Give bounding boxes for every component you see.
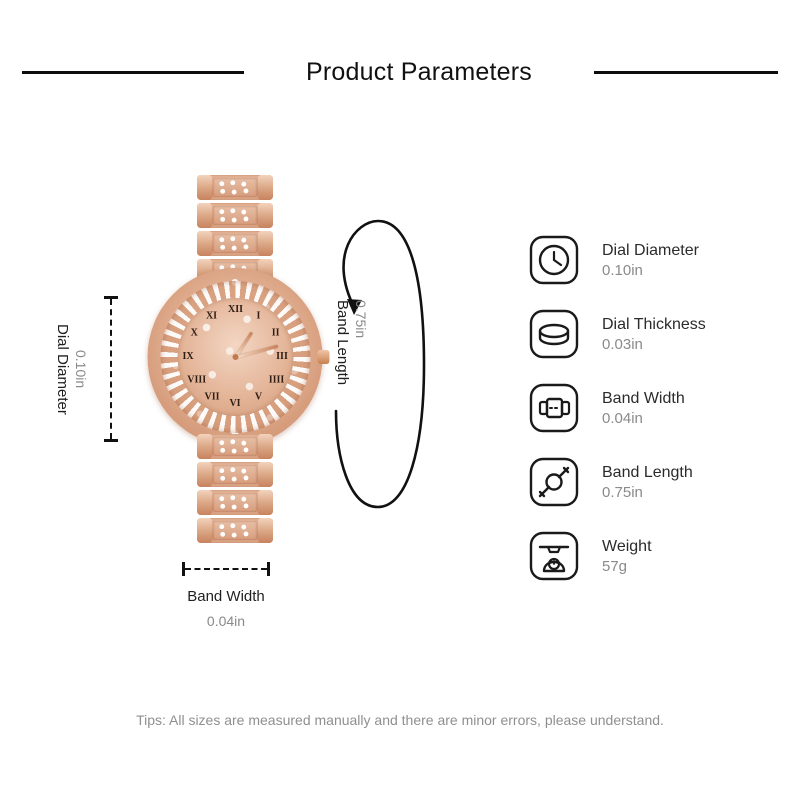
band-link (197, 462, 273, 487)
spec-row-dial-diameter: Dial Diameter 0.10in (528, 232, 790, 288)
spec-value: 0.10in (602, 261, 699, 281)
watch-dial-icon (528, 234, 580, 286)
dial-numeral: VII (205, 392, 219, 404)
band-link (197, 231, 273, 256)
spec-row-weight: Weight 57g (528, 528, 790, 584)
spec-value: 0.03in (602, 335, 706, 355)
band-link (197, 175, 273, 200)
dial-numeral: IX (181, 351, 195, 363)
watch-band-bottom (197, 432, 273, 562)
dimension-dashed-line (185, 568, 267, 570)
band-link (197, 518, 273, 543)
band-link (197, 434, 273, 459)
dimension-cap-bottom (104, 439, 118, 442)
specifications-list: Dial Diameter 0.10in Dial Thickness 0.03… (528, 232, 790, 602)
dial-numeral: VIII (187, 375, 201, 387)
dial-numeral: X (187, 328, 201, 340)
watch-dial: XIIIIIIIIIIIIVVIVIIVIIIIXXXI (177, 298, 293, 416)
band-length-value: 0.75in (353, 300, 369, 338)
dial-diameter-value: 0.10in (73, 350, 89, 388)
header-rule-left (22, 71, 244, 74)
dial-numeral: III (275, 351, 289, 363)
header-rule-right (594, 71, 778, 74)
dial-numeral: I (252, 310, 266, 322)
dial-diameter-annotation: Dial Diameter 0.10in (52, 296, 89, 442)
footer-tip: Tips: All sizes are measured manually an… (0, 712, 800, 728)
dial-numeral: V (252, 392, 266, 404)
dial-numeral: IIII (269, 375, 283, 387)
dimension-dashed-line (110, 299, 112, 439)
dial-numeral: XI (205, 310, 219, 322)
dial-numeral: II (269, 328, 283, 340)
scale-icon (528, 530, 580, 582)
spec-row-band-length: Band Length 0.75in (528, 454, 790, 510)
watch-case: XIIIIIIIIIIIIVVIVIIVIIIIXXXI (148, 268, 323, 446)
spec-label: Weight (602, 536, 652, 557)
dial-diameter-label: Dial Diameter (54, 324, 71, 415)
dial-diameter-dimension-line (104, 296, 118, 442)
page-title: Product Parameters (306, 58, 532, 87)
hands-pin (232, 354, 238, 360)
band-length-icon (528, 456, 580, 508)
spec-value: 57g (602, 557, 652, 577)
spec-label: Dial Diameter (602, 240, 699, 261)
band-width-dimension-line (182, 562, 270, 576)
band-width-label: Band Width (136, 588, 316, 605)
spec-row-dial-thickness: Dial Thickness 0.03in (528, 306, 790, 362)
dial-thickness-icon (528, 308, 580, 360)
spec-value: 0.04in (602, 409, 685, 429)
dial-numeral: VI (228, 398, 242, 410)
spec-label: Dial Thickness (602, 314, 706, 335)
band-link (197, 203, 273, 228)
spec-label: Band Length (602, 462, 693, 483)
spec-value: 0.75in (602, 483, 693, 503)
spec-row-band-width: Band Width 0.04in (528, 380, 790, 436)
band-width-icon (528, 382, 580, 434)
dimension-cap-right (267, 562, 270, 576)
band-link (197, 490, 273, 515)
band-length-label: Band Length (334, 300, 351, 385)
spec-label: Band Width (602, 388, 685, 409)
product-image: XIIIIIIIIIIIIVVIVIIVIIIIXXXI (140, 160, 330, 560)
band-length-annotation: Band Length 0.75in (332, 300, 369, 385)
page-header: Product Parameters (0, 52, 800, 92)
watch-band-top (197, 160, 273, 285)
dial-numeral: XII (228, 304, 242, 316)
watch-bezel: XIIIIIIIIIIIIVVIVIIVIIIIXXXI (160, 281, 310, 433)
band-width-value: 0.04in (136, 613, 316, 629)
